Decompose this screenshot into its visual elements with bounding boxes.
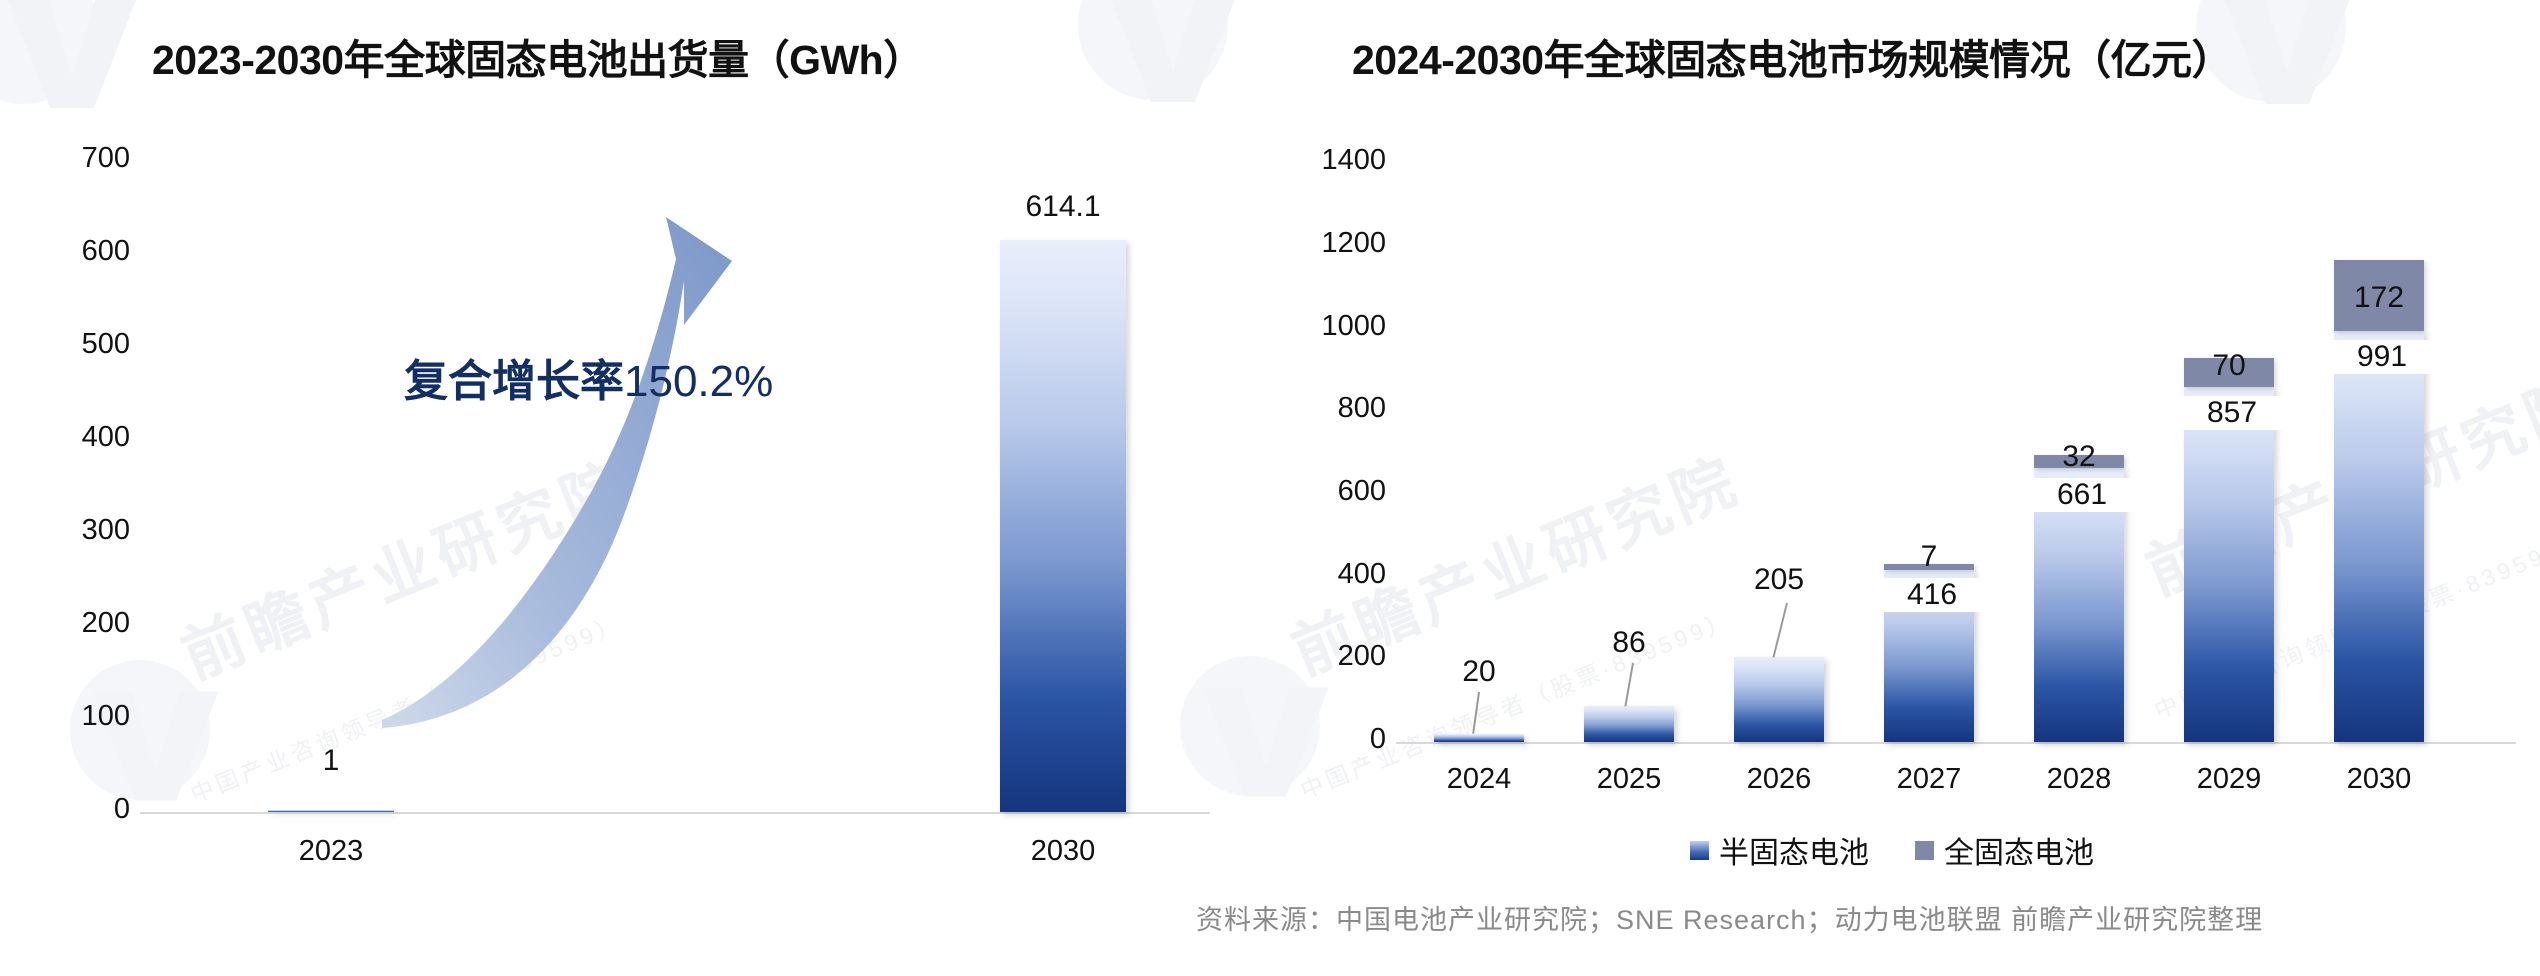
left-chart-title: 2023-2030年全球固态电池出货量（GWh） — [152, 26, 924, 86]
cagr-value: 150.2% — [624, 357, 773, 406]
y-tick-0: 0 — [1280, 723, 1386, 756]
y-tick-1200: 1200 — [1280, 227, 1386, 260]
bar-2030 — [1000, 240, 1126, 812]
bar-label-2024-semi: 20 — [1419, 655, 1539, 689]
y-tick-200: 200 — [34, 607, 130, 640]
bar-label-2028-full: 32 — [2029, 440, 2129, 474]
legend-item-full[interactable]: 全固态电池 — [1915, 828, 2094, 872]
bar-2025-semi — [1584, 706, 1674, 742]
left-axis-baseline — [140, 812, 1210, 814]
right-chart-title: 2024-2030年全球固态电池市场规模情况（亿元） — [1352, 26, 2232, 86]
bar-label-2023: 1 — [271, 744, 391, 778]
x-tick-2024: 2024 — [1419, 763, 1539, 796]
bar-label-2030: 614.1 — [1003, 190, 1123, 224]
leader-line-2025 — [1624, 663, 1634, 707]
y-tick-0: 0 — [34, 793, 130, 826]
legend-swatch-semi-icon — [1690, 841, 1709, 860]
x-tick-2028: 2028 — [2019, 763, 2139, 796]
leader-line-2026 — [1772, 603, 1787, 658]
x-tick-2023: 2023 — [271, 835, 391, 868]
y-tick-600: 600 — [34, 235, 130, 268]
bar-2023 — [268, 810, 394, 812]
infographic-root: 前瞻产业研究院 中国产业咨询领导者（股票·839599） 前瞻产业研究院 中国产… — [0, 0, 2540, 976]
y-tick-400: 400 — [34, 421, 130, 454]
legend-label-semi: 半固态电池 — [1719, 828, 1869, 872]
bar-2026-semi — [1734, 657, 1824, 742]
bar-2030-semi — [2334, 331, 2424, 742]
y-tick-400: 400 — [1280, 558, 1386, 591]
bar-label-2028-semi: 661 — [2024, 478, 2140, 512]
bar-label-2025-semi: 86 — [1569, 626, 1689, 660]
x-tick-2030: 2030 — [2319, 763, 2439, 796]
y-tick-100: 100 — [34, 700, 130, 733]
bar-label-2030-full: 172 — [2329, 281, 2429, 315]
legend-item-semi[interactable]: 半固态电池 — [1690, 828, 1869, 872]
cagr-label: 复合增长率 — [404, 357, 624, 406]
x-tick-2026: 2026 — [1719, 763, 1839, 796]
right-chart-legend: 半固态电池 全固态电池 — [1690, 828, 2094, 872]
watermark-logo-v — [0, 0, 144, 114]
y-tick-300: 300 — [34, 514, 130, 547]
leader-line-2024 — [1472, 692, 1480, 734]
y-tick-500: 500 — [34, 328, 130, 361]
legend-label-full: 全固态电池 — [1944, 828, 2094, 872]
bar-2029-semi — [2184, 387, 2274, 742]
bar-label-2029-full: 70 — [2179, 349, 2279, 383]
y-tick-600: 600 — [1280, 475, 1386, 508]
legend-swatch-full-icon — [1915, 841, 1934, 860]
cagr-annotation: 复合增长率150.2% — [404, 345, 773, 409]
x-tick-2027: 2027 — [1869, 763, 1989, 796]
bar-label-2027-semi: 416 — [1874, 578, 1990, 612]
bar-label-2026-semi: 205 — [1714, 563, 1844, 597]
y-tick-800: 800 — [1280, 392, 1386, 425]
x-tick-2025: 2025 — [1569, 763, 1689, 796]
growth-arrow-icon — [380, 215, 800, 745]
source-note: 资料来源：中国电池产业研究院；SNE Research；动力电池联盟 前瞻产业研… — [1196, 898, 2263, 937]
bar-2024-semi — [1434, 734, 1524, 742]
y-tick-200: 200 — [1280, 640, 1386, 673]
y-tick-1000: 1000 — [1280, 310, 1386, 343]
x-tick-2030: 2030 — [1003, 835, 1123, 868]
bar-label-2030-semi: 991 — [2324, 340, 2440, 374]
watermark-logo-v — [1090, 0, 1250, 108]
x-tick-2029: 2029 — [2169, 763, 2289, 796]
bar-label-2027-full: 7 — [1879, 540, 1979, 574]
right-axis-baseline — [1396, 742, 2516, 744]
y-tick-1400: 1400 — [1280, 144, 1386, 177]
bar-label-2029-semi: 857 — [2174, 396, 2290, 430]
y-tick-700: 700 — [34, 142, 130, 175]
